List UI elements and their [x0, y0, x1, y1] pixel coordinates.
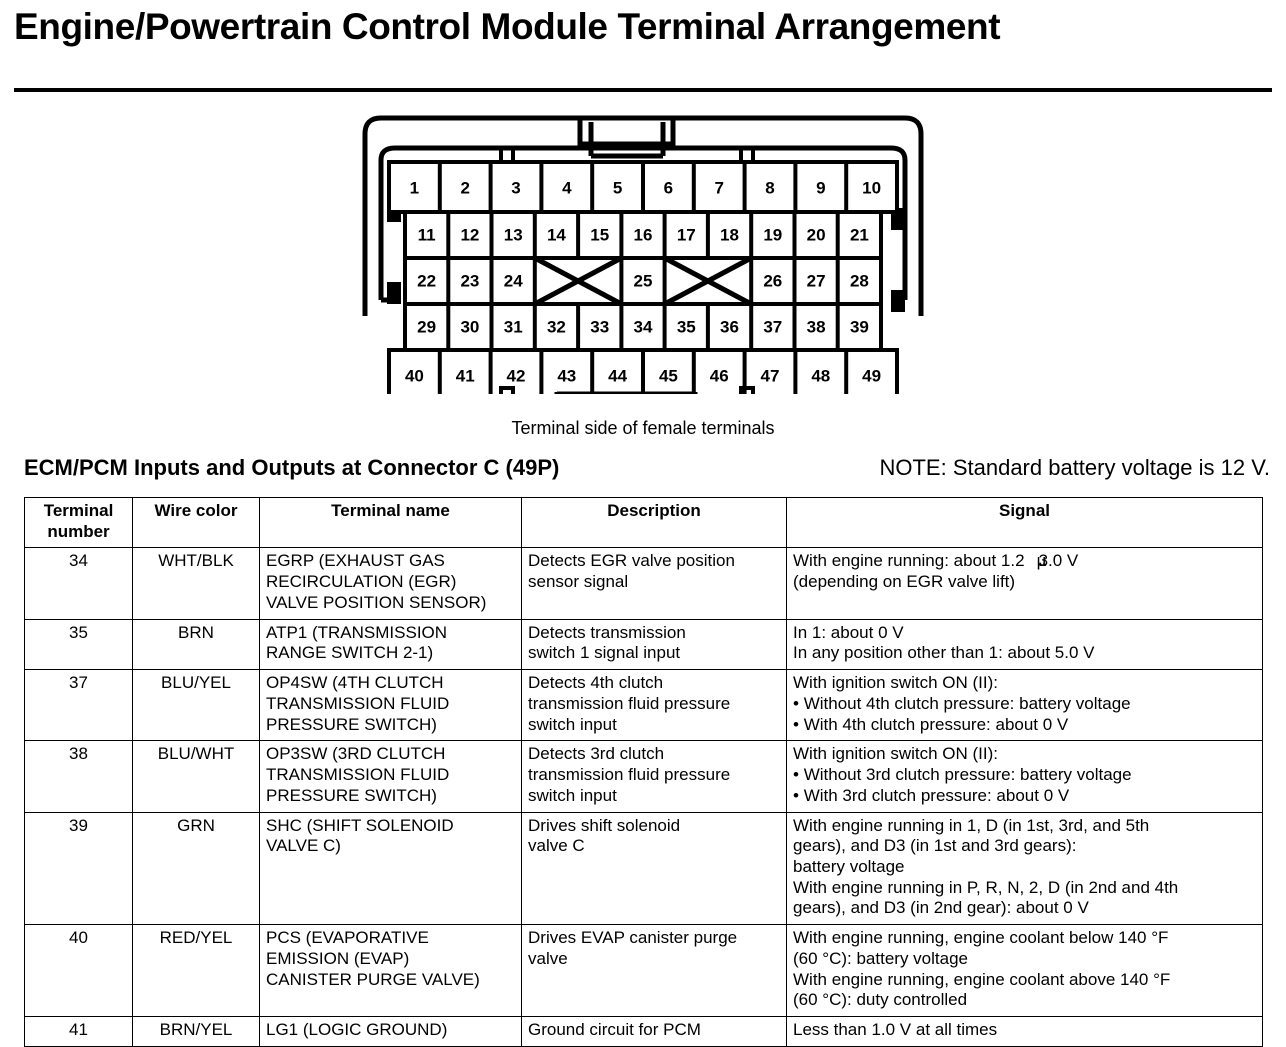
cell-terminal-number: 37 [25, 670, 133, 741]
table-body: 34WHT/BLKEGRP (EXHAUST GASRECIRCULATION … [25, 548, 1263, 1046]
signal-bullet-line: With 3rd clutch pressure: about 0 V [793, 786, 1256, 807]
svg-text:23: 23 [460, 272, 479, 291]
signal-line: In 1: about 0 V [793, 623, 1256, 644]
section-title: ECM/PCM Inputs and Outputs at Connector … [24, 455, 559, 481]
description-line: Detects 3rd clutch [528, 744, 780, 765]
svg-text:34: 34 [634, 318, 653, 337]
terminal-name-line: VALVE C) [266, 836, 515, 857]
cell-terminal-number: 41 [25, 1017, 133, 1047]
signal-line: With engine running, engine coolant belo… [793, 928, 1256, 949]
section-note: NOTE: Standard battery voltage is 12 V. [879, 455, 1270, 481]
cell-terminal-name: ATP1 (TRANSMISSIONRANGE SWITCH 2-1) [260, 619, 522, 669]
bottom-lever [557, 392, 695, 394]
cell-terminal-number: 38 [25, 741, 133, 812]
column-header-terminal-name: Terminal name [260, 498, 522, 548]
svg-text:12: 12 [460, 226, 479, 245]
svg-text:6: 6 [664, 179, 673, 198]
cell-signal: With ignition switch ON (II):Without 4th… [787, 670, 1263, 741]
description-line: Drives EVAP canister purge [528, 928, 780, 949]
cell-description: Detects EGR valve positionsensor signal [522, 548, 787, 619]
description-line: switch input [528, 786, 780, 807]
cell-wire-color: WHT/BLK [133, 548, 260, 619]
terminal-name-line: PCS (EVAPORATIVE [266, 928, 515, 949]
description-line: switch 1 signal input [528, 643, 780, 664]
connector-svg: 1 2 3 4 5 6 7 8 9 10 11 12 [343, 104, 943, 394]
terminal-name-line: EGRP (EXHAUST GAS [266, 551, 515, 572]
description-line: valve C [528, 836, 780, 857]
svg-text:38: 38 [807, 318, 826, 337]
table-header-row: Terminal number Wire color Terminal name… [25, 498, 1263, 548]
description-line: transmission fluid pressure [528, 694, 780, 715]
cell-signal: In 1: about 0 VIn any position other tha… [787, 619, 1263, 669]
side-lock-tab-lower-right [891, 290, 905, 312]
terminal-name-line: RECIRCULATION (EGR) [266, 572, 515, 593]
signal-line: battery voltage [793, 857, 1256, 878]
cell-terminal-name: OP3SW (3RD CLUTCHTRANSMISSION FLUIDPRESS… [260, 741, 522, 812]
cell-terminal-name: EGRP (EXHAUST GASRECIRCULATION (EGR)VALV… [260, 548, 522, 619]
svg-text:27: 27 [807, 272, 826, 291]
svg-text:47: 47 [761, 367, 780, 386]
svg-text:24: 24 [504, 272, 523, 291]
svg-text:10: 10 [862, 179, 881, 198]
svg-text:37: 37 [763, 318, 782, 337]
svg-text:22: 22 [417, 272, 436, 291]
description-line: sensor signal [528, 572, 780, 593]
svg-text:49: 49 [862, 367, 881, 386]
svg-text:11: 11 [418, 226, 436, 245]
terminal-name-line: OP3SW (3RD CLUTCH [266, 744, 515, 765]
cell-signal: With engine running in 1, D (in 1st, 3rd… [787, 812, 1263, 925]
svg-text:28: 28 [850, 272, 869, 291]
terminal-name-line: LG1 (LOGIC GROUND) [266, 1020, 515, 1041]
svg-text:7: 7 [714, 179, 723, 198]
header-line: Terminal [31, 501, 126, 522]
title-divider [14, 88, 1272, 92]
terminal-name-line: RANGE SWITCH 2-1) [266, 643, 515, 664]
svg-text:16: 16 [634, 226, 653, 245]
signal-line: With ignition switch ON (II): [793, 673, 1256, 694]
description-line: switch input [528, 715, 780, 736]
cell-wire-color: BLU/WHT [133, 741, 260, 812]
cell-description: Ground circuit for PCM [522, 1017, 787, 1047]
signal-line: In any position other than 1: about 5.0 … [793, 643, 1256, 664]
cell-description: Detects transmissionswitch 1 signal inpu… [522, 619, 787, 669]
cell-signal: With engine running: about 1.2µ3.0 V(dep… [787, 548, 1263, 619]
description-line: Drives shift solenoid [528, 816, 780, 837]
svg-text:41: 41 [456, 367, 475, 386]
terminal-name-line: TRANSMISSION FLUID [266, 694, 515, 715]
description-line: transmission fluid pressure [528, 765, 780, 786]
cell-terminal-number: 34 [25, 548, 133, 619]
svg-text:15: 15 [590, 226, 609, 245]
signal-line: With ignition switch ON (II): [793, 744, 1256, 765]
svg-text:29: 29 [417, 318, 436, 337]
cell-wire-color: BRN [133, 619, 260, 669]
signal-line: gears), and D3 (in 2nd gear): about 0 V [793, 898, 1256, 919]
svg-text:31: 31 [504, 318, 523, 337]
table-row: 35BRNATP1 (TRANSMISSIONRANGE SWITCH 2-1)… [25, 619, 1263, 669]
cell-wire-color: RED/YEL [133, 925, 260, 1017]
svg-text:39: 39 [850, 318, 869, 337]
table-row: 34WHT/BLKEGRP (EXHAUST GASRECIRCULATION … [25, 548, 1263, 619]
cell-description: Detects 4th clutchtransmission fluid pre… [522, 670, 787, 741]
signal-bullet-line: Without 3rd clutch pressure: battery vol… [793, 765, 1256, 786]
connector-diagram: 1 2 3 4 5 6 7 8 9 10 11 12 [0, 104, 1286, 444]
terminal-name-line: ATP1 (TRANSMISSION [266, 623, 515, 644]
signal-line: Less than 1.0 V at all times [793, 1020, 1256, 1041]
diagram-caption: Terminal side of female terminals [0, 418, 1286, 439]
description-line: Detects transmission [528, 623, 780, 644]
terminal-name-line: PRESSURE SWITCH) [266, 715, 515, 736]
pinout-table: Terminal number Wire color Terminal name… [24, 497, 1263, 1047]
cell-terminal-number: 40 [25, 925, 133, 1017]
svg-text:46: 46 [710, 367, 729, 386]
description-line: Detects EGR valve position [528, 551, 780, 572]
signal-line: (60 °C): battery voltage [793, 949, 1256, 970]
signal-bullet-line: With 4th clutch pressure: about 0 V [793, 715, 1256, 736]
signal-line: gears), and D3 (in 1st and 3rd gears): [793, 836, 1256, 857]
signal-line: With engine running: about 1.2µ3.0 V [793, 551, 1256, 572]
svg-text:8: 8 [765, 179, 774, 198]
cell-terminal-name: OP4SW (4TH CLUTCHTRANSMISSION FLUIDPRESS… [260, 670, 522, 741]
cell-wire-color: BLU/YEL [133, 670, 260, 741]
cell-signal: With engine running, engine coolant belo… [787, 925, 1263, 1017]
side-lock-tab-lower-left [387, 282, 401, 304]
terminal-name-line: TRANSMISSION FLUID [266, 765, 515, 786]
terminal-name-line: CANISTER PURGE VALVE) [266, 970, 515, 991]
svg-text:21: 21 [850, 226, 869, 245]
column-header-wire-color: Wire color [133, 498, 260, 548]
svg-text:5: 5 [613, 179, 622, 198]
svg-text:45: 45 [659, 367, 678, 386]
svg-text:36: 36 [720, 318, 739, 337]
svg-text:20: 20 [807, 226, 826, 245]
svg-text:17: 17 [677, 226, 696, 245]
section-header: ECM/PCM Inputs and Outputs at Connector … [0, 455, 1286, 481]
terminal-name-line: VALVE POSITION SENSOR) [266, 593, 515, 614]
svg-text:30: 30 [460, 318, 479, 337]
svg-text:3: 3 [511, 179, 520, 198]
pinout-table-container: Terminal number Wire color Terminal name… [24, 497, 1262, 1047]
table-row: 40RED/YELPCS (EVAPORATIVEEMISSION (EVAP)… [25, 925, 1263, 1017]
svg-text:19: 19 [763, 226, 782, 245]
signal-line: With engine running in P, R, N, 2, D (in… [793, 878, 1256, 899]
description-line: Ground circuit for PCM [528, 1020, 780, 1041]
svg-text:42: 42 [507, 367, 526, 386]
table-row: 41BRN/YELLG1 (LOGIC GROUND)Ground circui… [25, 1017, 1263, 1047]
signal-line: With engine running, engine coolant abov… [793, 970, 1256, 991]
svg-text:32: 32 [547, 318, 566, 337]
svg-text:40: 40 [405, 367, 424, 386]
svg-text:1: 1 [410, 179, 419, 198]
signal-line: (depending on EGR valve lift) [793, 572, 1256, 593]
terminal-name-line: PRESSURE SWITCH) [266, 786, 515, 807]
svg-text:35: 35 [677, 318, 696, 337]
cell-description: Drives shift solenoidvalve C [522, 812, 787, 925]
table-row: 37BLU/YELOP4SW (4TH CLUTCHTRANSMISSION F… [25, 670, 1263, 741]
column-header-description: Description [522, 498, 787, 548]
svg-text:14: 14 [547, 226, 566, 245]
svg-text:44: 44 [608, 367, 627, 386]
cell-wire-color: BRN/YEL [133, 1017, 260, 1047]
table-row: 39GRNSHC (SHIFT SOLENOIDVALVE C)Drives s… [25, 812, 1263, 925]
cell-terminal-name: LG1 (LOGIC GROUND) [260, 1017, 522, 1047]
terminal-name-line: OP4SW (4TH CLUTCH [266, 673, 515, 694]
cell-description: Detects 3rd clutchtransmission fluid pre… [522, 741, 787, 812]
svg-text:18: 18 [720, 226, 739, 245]
page-title: Engine/Powertrain Control Module Termina… [0, 0, 1286, 45]
cell-terminal-name: SHC (SHIFT SOLENOIDVALVE C) [260, 812, 522, 925]
signal-line: With engine running in 1, D (in 1st, 3rd… [793, 816, 1256, 837]
description-line: Detects 4th clutch [528, 673, 780, 694]
table-row: 38BLU/WHTOP3SW (3RD CLUTCHTRANSMISSION F… [25, 741, 1263, 812]
svg-text:48: 48 [811, 367, 830, 386]
cell-terminal-name: PCS (EVAPORATIVEEMISSION (EVAP)CANISTER … [260, 925, 522, 1017]
svg-text:25: 25 [634, 272, 653, 291]
terminal-name-line: SHC (SHIFT SOLENOID [266, 816, 515, 837]
svg-text:43: 43 [557, 367, 576, 386]
terminal-name-line: EMISSION (EVAP) [266, 949, 515, 970]
cell-description: Drives EVAP canister purgevalve [522, 925, 787, 1017]
cell-terminal-number: 35 [25, 619, 133, 669]
svg-text:26: 26 [763, 272, 782, 291]
svg-text:4: 4 [562, 179, 572, 198]
svg-text:2: 2 [460, 179, 469, 198]
cell-wire-color: GRN [133, 812, 260, 925]
cell-signal: Less than 1.0 V at all times [787, 1017, 1263, 1047]
cell-signal: With ignition switch ON (II):Without 3rd… [787, 741, 1263, 812]
column-header-signal: Signal [787, 498, 1263, 548]
header-line: number [31, 522, 126, 543]
svg-text:9: 9 [816, 179, 825, 198]
signal-line: (60 °C): duty controlled [793, 990, 1256, 1011]
svg-text:13: 13 [504, 226, 523, 245]
column-header-terminal-number: Terminal number [25, 498, 133, 548]
cell-terminal-number: 39 [25, 812, 133, 925]
description-line: valve [528, 949, 780, 970]
svg-text:33: 33 [590, 318, 609, 337]
signal-bullet-line: Without 4th clutch pressure: battery vol… [793, 694, 1256, 715]
